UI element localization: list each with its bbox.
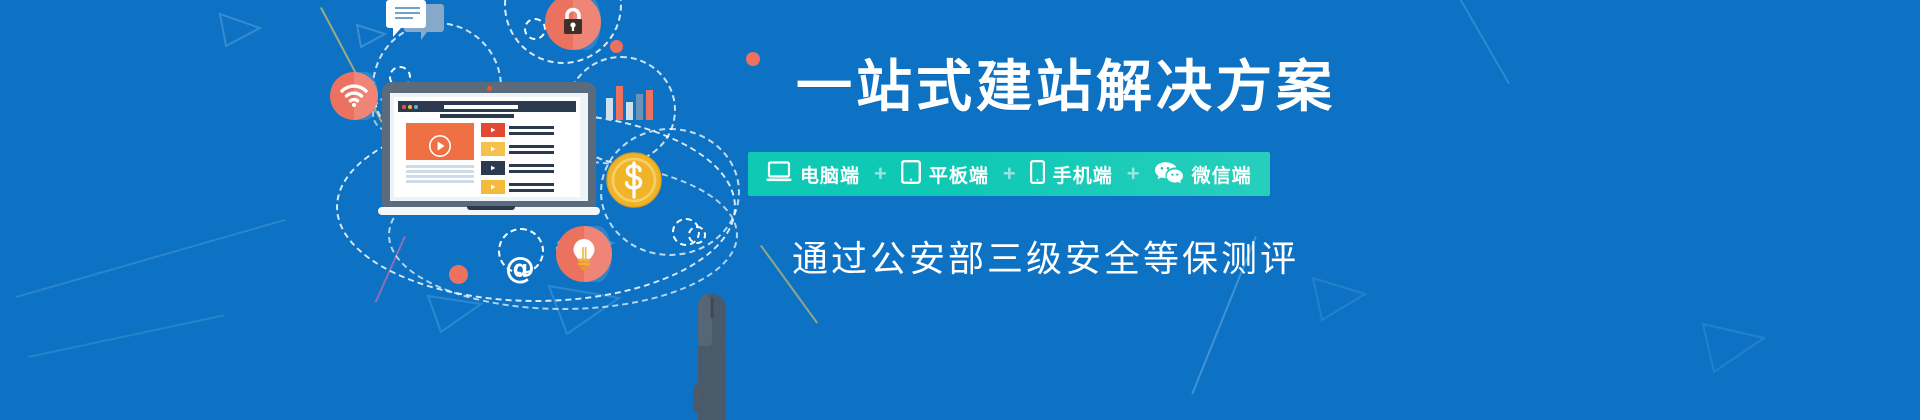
lightbulb-icon-badge: [556, 226, 612, 282]
device-support-bar: 电脑端 + 平板端 +: [748, 152, 1270, 196]
coin-dollar-icon: [606, 152, 662, 213]
lock-icon-badge: [545, 0, 601, 50]
phone-icon: [1030, 160, 1045, 189]
decor-dashed-ring: [524, 18, 546, 40]
plus-separator: +: [1127, 163, 1140, 185]
device-item-desktop[interactable]: 电脑端: [766, 161, 860, 188]
thumbnail-item: [481, 161, 505, 175]
svg-text:@: @: [505, 251, 535, 286]
at-sign-icon: @: [500, 248, 540, 293]
thumbnail-item: [481, 123, 505, 137]
thumbnail-item: [481, 142, 505, 156]
laptop-mockup: [382, 82, 596, 214]
decor-diagonal-line: [16, 219, 286, 298]
device-label-phone: 手机端: [1053, 161, 1113, 188]
device-item-phone[interactable]: 手机端: [1030, 160, 1113, 189]
device-item-tablet[interactable]: 平板端: [901, 160, 989, 189]
laptop-icon: [766, 161, 792, 188]
wechat-icon: [1154, 160, 1184, 189]
mouse-icon: [690, 290, 734, 420]
decor-dot: [449, 265, 468, 284]
thumbnail-item: [481, 180, 505, 194]
lightbulb-icon: [570, 237, 598, 271]
device-item-wechat[interactable]: 微信端: [1154, 160, 1252, 189]
tablet-icon: [901, 160, 921, 189]
device-label-desktop: 电脑端: [800, 161, 860, 188]
device-label-tablet: 平板端: [929, 161, 989, 188]
banner-headline: 一站式建站解决方案: [796, 56, 1336, 118]
bar-chart-icon: [604, 72, 662, 125]
device-label-wechat: 微信端: [1192, 161, 1252, 188]
wifi-icon: [340, 84, 368, 108]
plus-separator: +: [1003, 163, 1016, 185]
banner-tagline: 通过公安部三级安全等保测评: [792, 230, 1299, 282]
plus-separator: +: [874, 163, 887, 185]
lock-icon: [558, 6, 588, 38]
chat-bubble-icon: [385, 0, 451, 61]
wifi-icon-badge: [330, 72, 378, 120]
decor-diagonal-line: [28, 314, 224, 358]
decor-triangle-outline: [218, 10, 264, 55]
banner-text-column: 一站式建站解决方案 电脑端 +: [748, 0, 1918, 420]
decor-dashed-ring: [688, 226, 706, 244]
play-icon: [428, 134, 452, 163]
decor-dot: [610, 40, 623, 53]
promo-banner: @ 一站式建站解决方案 电脑端 +: [0, 0, 1920, 420]
